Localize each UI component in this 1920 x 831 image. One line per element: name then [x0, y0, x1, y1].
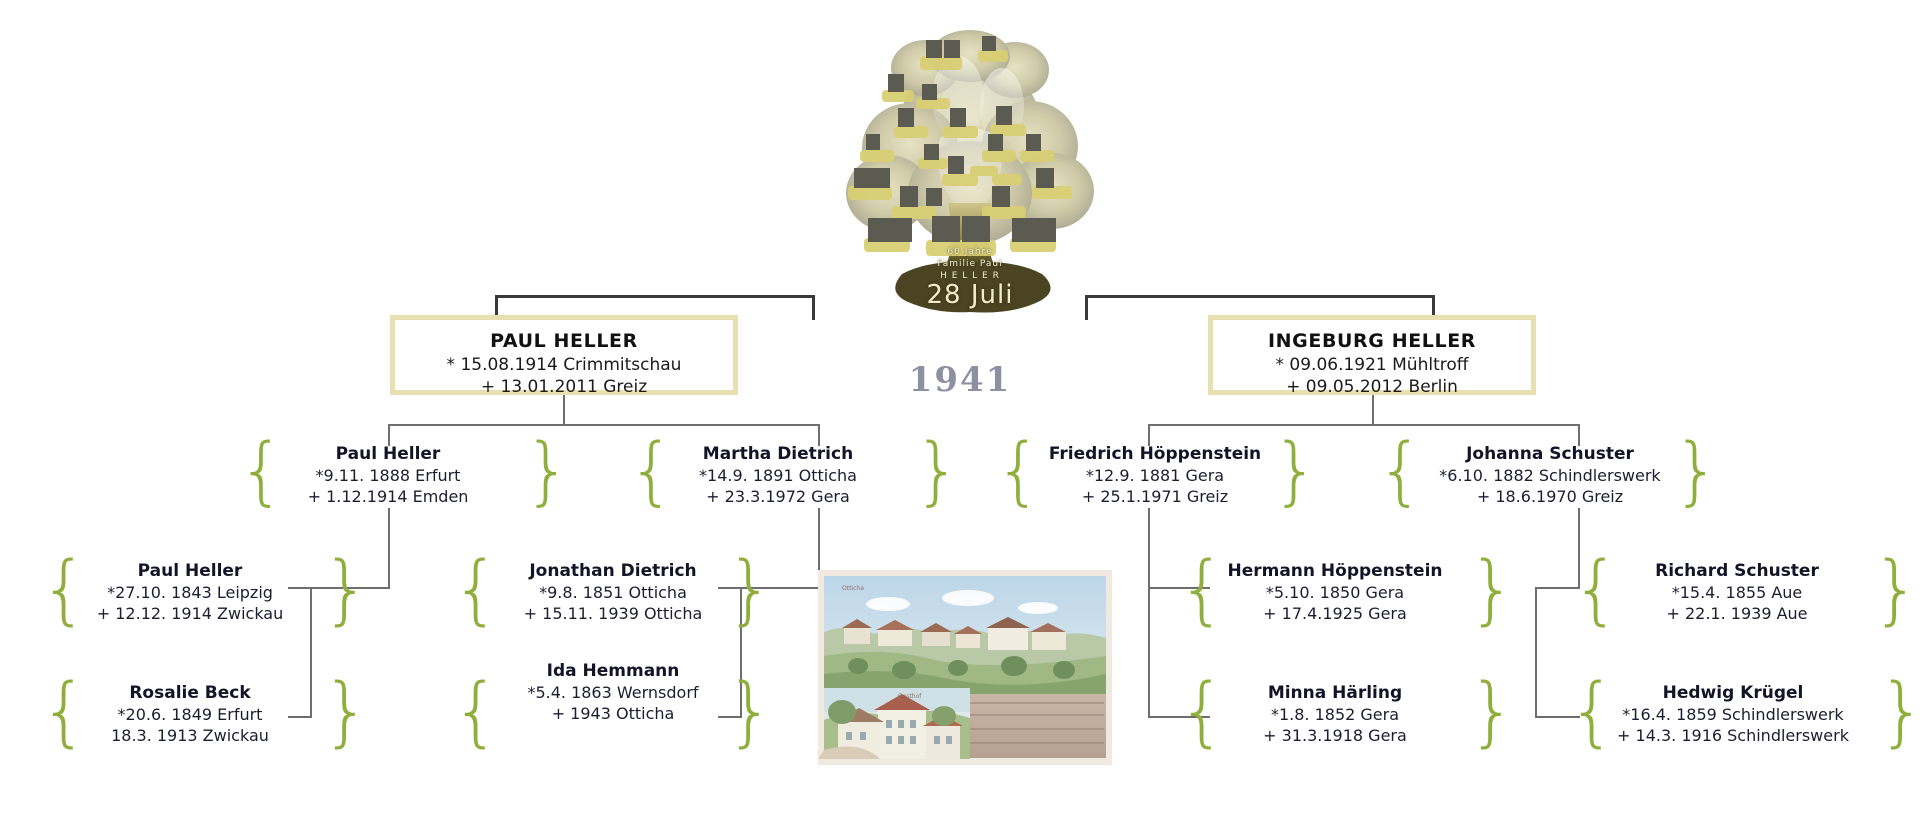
person-name: Johanna Schuster: [1395, 443, 1705, 465]
tree-date-label: 28 Juli: [830, 280, 1110, 310]
person-entry-minna-haerling: Minna Härling *1.8. 1852 Gera + 31.3.191…: [1195, 682, 1475, 746]
brace-left-icon: {: [452, 551, 500, 627]
tree-caption-line1: 60 Jahre: [830, 246, 1110, 258]
person-name: Martha Dietrich: [643, 443, 913, 465]
connector-g3-col3-span: [1148, 587, 1150, 717]
brace-left-icon: {: [40, 673, 88, 749]
person-death: + 15.11. 1939 Otticha: [478, 603, 748, 624]
person-name: INGEBURG HELLER: [1219, 330, 1525, 354]
year-label: 1941: [0, 360, 1920, 400]
brace-left-icon: {: [1178, 673, 1226, 749]
brace-right-icon: }: [322, 551, 370, 627]
person-death: 18.3. 1913 Zwickau: [60, 725, 320, 746]
connector-g3-col1-v: [388, 508, 390, 588]
person-birth: *16.4. 1859 Schindlerswerk: [1583, 704, 1883, 725]
connector-top-left: [495, 295, 815, 298]
svg-text:Gasthof: Gasthof: [898, 693, 922, 700]
connector-g3-col4-span: [1535, 587, 1537, 717]
connector-top-right-down: [1085, 295, 1088, 320]
brace-left-icon: {: [1377, 434, 1424, 508]
brace-left-icon: {: [40, 551, 88, 627]
svg-text:Otticha: Otticha: [842, 585, 864, 592]
person-entry-johanna-schuster: Johanna Schuster *6.10. 1882 Schindlersw…: [1395, 443, 1705, 507]
person-death: + 31.3.1918 Gera: [1195, 725, 1475, 746]
postcard-photo: Otticha Gasthof: [818, 570, 1112, 765]
brace-right-icon: }: [726, 551, 774, 627]
person-birth: * 09.06.1921 Mühltroff: [1219, 354, 1525, 376]
person-entry-ida-hemmann: Ida Hemmann *5.4. 1863 Wernsdorf + 1943 …: [478, 660, 748, 724]
brace-right-icon: }: [914, 434, 961, 508]
brace-left-icon: {: [238, 434, 285, 508]
tree-caption-line2: Familie Paul: [830, 258, 1110, 270]
person-birth: *6.10. 1882 Schindlerswerk: [1395, 465, 1705, 486]
brace-left-icon: {: [628, 434, 675, 508]
person-birth: *5.4. 1863 Wernsdorf: [478, 682, 748, 703]
person-death: + 12.12. 1914 Zwickau: [60, 603, 320, 624]
person-death: + 14.3. 1916 Schindlerswerk: [1583, 725, 1883, 746]
connector-g2-left-bar: [388, 424, 820, 426]
person-death: + 1.12.1914 Emden: [253, 486, 523, 507]
brace-right-icon: }: [1468, 551, 1516, 627]
person-birth: *9.8. 1851 Otticha: [478, 582, 748, 603]
person-name: Paul Heller: [253, 443, 523, 465]
brace-right-icon: }: [1673, 434, 1720, 508]
brace-left-icon: {: [1568, 673, 1616, 749]
connector-top-right: [1085, 295, 1435, 298]
person-birth: *27.10. 1843 Leipzig: [60, 582, 320, 603]
brace-left-icon: {: [1572, 551, 1620, 627]
person-entry-friedrich-hoeppenstein: Friedrich Höppenstein *12.9. 1881 Gera +…: [1010, 443, 1300, 507]
connector-g1l-down: [563, 395, 565, 425]
person-name: Friedrich Höppenstein: [1010, 443, 1300, 465]
connector-g1r-down: [1372, 395, 1374, 425]
person-birth: *1.8. 1852 Gera: [1195, 704, 1475, 725]
person-entry-rosalie-beck: Rosalie Beck *20.6. 1849 Erfurt 18.3. 19…: [60, 682, 320, 746]
person-entry-paul-heller-1843: Paul Heller *27.10. 1843 Leipzig + 12.12…: [60, 560, 320, 624]
person-birth: *5.10. 1850 Gera: [1195, 582, 1475, 603]
brace-right-icon: }: [1872, 551, 1920, 627]
person-name: Richard Schuster: [1592, 560, 1882, 582]
person-death: + 22.1. 1939 Aue: [1592, 603, 1882, 624]
person-entry-paul-heller-1888: Paul Heller *9.11. 1888 Erfurt + 1.12.19…: [253, 443, 523, 507]
person-birth: *9.11. 1888 Erfurt: [253, 465, 523, 486]
brace-right-icon: }: [726, 673, 774, 749]
person-entry-richard-schuster: Richard Schuster *15.4. 1855 Aue + 22.1.…: [1592, 560, 1882, 624]
brace-right-icon: }: [1468, 673, 1516, 749]
family-tree-illustration: 60 Jahre Familie Paul H E L L E R 28 Jul…: [830, 28, 1110, 318]
brace-left-icon: {: [995, 434, 1042, 508]
brace-right-icon: }: [524, 434, 571, 508]
person-entry-jonathan-dietrich: Jonathan Dietrich *9.8. 1851 Otticha + 1…: [478, 560, 748, 624]
person-name: Minna Härling: [1195, 682, 1475, 704]
person-entry-hermann-hoeppenstein: Hermann Höppenstein *5.10. 1850 Gera + 1…: [1195, 560, 1475, 624]
brace-left-icon: {: [1178, 551, 1226, 627]
person-birth: *20.6. 1849 Erfurt: [60, 704, 320, 725]
person-name: Hermann Höppenstein: [1195, 560, 1475, 582]
brace-right-icon: }: [1878, 673, 1920, 749]
person-name: Ida Hemmann: [478, 660, 748, 682]
person-death: + 23.3.1972 Gera: [643, 486, 913, 507]
person-name: Rosalie Beck: [60, 682, 320, 704]
person-box-paul-heller-1914: PAUL HELLER * 15.08.1914 Crimmitschau + …: [390, 315, 738, 395]
connector-g2-right-bar: [1148, 424, 1578, 426]
person-birth: *12.9. 1881 Gera: [1010, 465, 1300, 486]
connector-g3-col3-v: [1148, 508, 1150, 588]
person-name: Paul Heller: [60, 560, 320, 582]
person-death: + 1943 Otticha: [478, 703, 748, 724]
person-name: Jonathan Dietrich: [478, 560, 748, 582]
person-name: Hedwig Krügel: [1583, 682, 1883, 704]
person-death: + 25.1.1971 Greiz: [1010, 486, 1300, 507]
person-birth: * 15.08.1914 Crimmitschau: [401, 354, 727, 376]
person-name: PAUL HELLER: [401, 330, 727, 354]
person-birth: *14.9. 1891 Otticha: [643, 465, 913, 486]
person-box-ingeburg-heller: INGEBURG HELLER * 09.06.1921 Mühltroff +…: [1208, 315, 1536, 395]
person-birth: *15.4. 1855 Aue: [1592, 582, 1882, 603]
brace-left-icon: {: [452, 673, 500, 749]
genealogy-chart: 60 Jahre Familie Paul H E L L E R 28 Jul…: [0, 0, 1920, 831]
person-death: + 17.4.1925 Gera: [1195, 603, 1475, 624]
person-entry-martha-dietrich: Martha Dietrich *14.9. 1891 Otticha + 23…: [643, 443, 913, 507]
person-death: + 18.6.1970 Greiz: [1395, 486, 1705, 507]
brace-right-icon: }: [1272, 434, 1319, 508]
person-entry-hedwig-kruegel: Hedwig Krügel *16.4. 1859 Schindlerswerk…: [1583, 682, 1883, 746]
connector-top-left-right-down: [812, 295, 815, 320]
brace-right-icon: }: [322, 673, 370, 749]
